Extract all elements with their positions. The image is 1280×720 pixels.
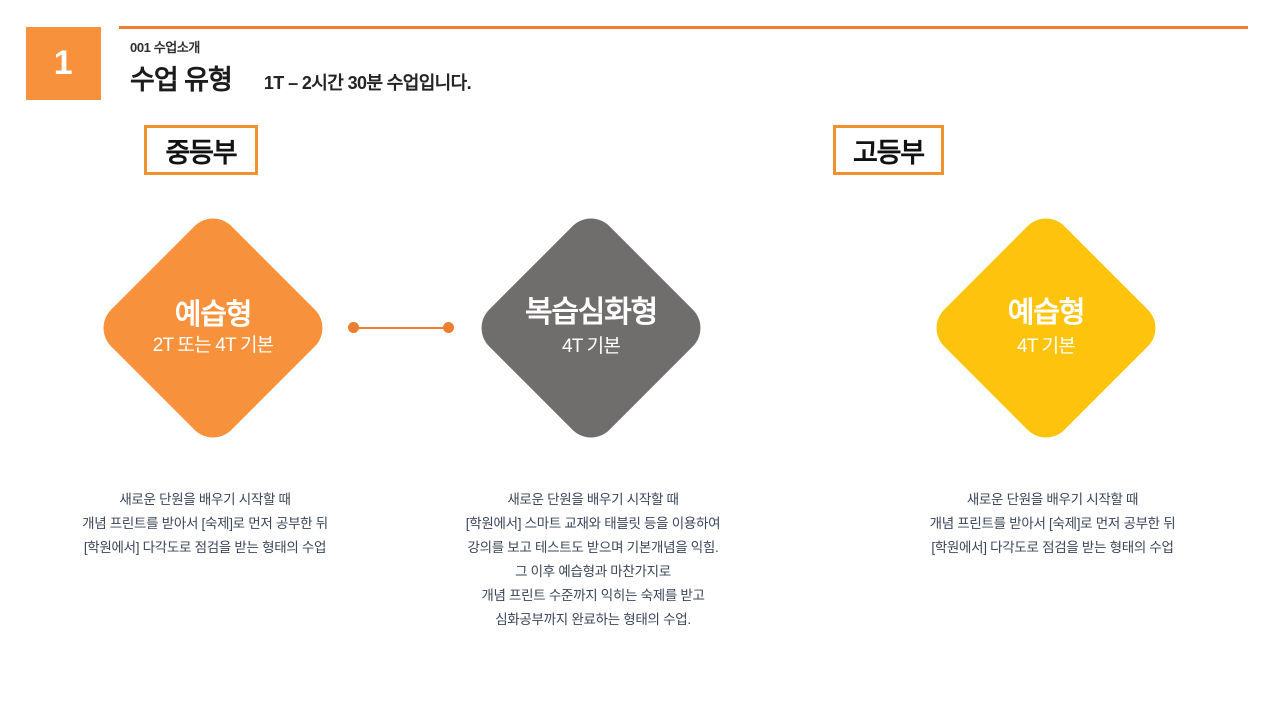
description-line: 새로운 단원을 배우기 시작할 때 [55,488,355,512]
course-type-title: 복습심화형 [525,296,657,330]
course-type-card-preview-middle: 예습형 2T 또는 4T 기본 [93,208,333,448]
course-type-card-review-deep-middle: 복습심화형 4T 기본 [471,208,711,448]
description-line: [학원에서] 다각도로 점검을 받는 형태의 수업 [885,536,1220,560]
group-label-middle-school: 중등부 [144,125,258,175]
page-subtitle: 1T – 2시간 30분 수업입니다. [264,69,471,95]
group-label-middle-school-text: 중등부 [166,131,237,170]
description-line: 강의를 보고 테스트도 받으며 기본개념을 익힘. [428,536,758,560]
course-description-review-deep-middle: 새로운 단원을 배우기 시작할 때 [학원에서] 스마트 교재와 태블릿 등을 … [428,488,758,632]
description-line: 그 이후 예습형과 마찬가지로 [428,560,758,584]
course-type-subtitle: 4T 기본 [1017,334,1075,360]
description-line: [학원에서] 스마트 교재와 태블릿 등을 이용하여 [428,512,758,536]
diamond-label-group: 예습형 4T 기본 [926,208,1166,448]
header-text-block: 001 수업소개 수업 유형 1T – 2시간 30분 수업입니다. [130,40,1030,97]
connector-dot-left-icon [348,322,359,333]
connector-line [353,327,449,329]
course-description-preview-high: 새로운 단원을 배우기 시작할 때 개념 프린트를 받아서 [숙제]로 먼저 공… [885,488,1220,560]
course-type-title: 예습형 [175,298,251,332]
group-label-high-school: 고등부 [833,125,944,175]
description-line: [학원에서] 다각도로 점검을 받는 형태의 수업 [55,536,355,560]
diamond-label-group: 복습심화형 4T 기본 [471,208,711,448]
slide-number-value: 1 [54,44,73,83]
description-line: 개념 프린트를 받아서 [숙제]로 먼저 공부한 뒤 [885,512,1220,536]
course-type-subtitle: 4T 기본 [562,334,620,360]
connector-line-group [348,322,454,334]
connector-dot-right-icon [443,322,454,333]
description-line: 새로운 단원을 배우기 시작할 때 [428,488,758,512]
course-type-subtitle: 2T 또는 4T 기본 [153,333,274,359]
group-label-high-school-text: 고등부 [853,131,924,170]
header-divider-rule [119,26,1248,29]
description-line: 새로운 단원을 배우기 시작할 때 [885,488,1220,512]
section-eyebrow-label: 001 수업소개 [130,40,1030,56]
course-type-title: 예습형 [1008,296,1084,330]
description-line: 심화공부까지 완료하는 형태의 수업. [428,608,758,632]
description-line: 개념 프린트 수준까지 익히는 숙제를 받고 [428,584,758,608]
course-type-card-preview-high: 예습형 4T 기본 [926,208,1166,448]
header-title-row: 수업 유형 1T – 2시간 30분 수업입니다. [130,58,1030,97]
course-description-preview-middle: 새로운 단원을 배우기 시작할 때 개념 프린트를 받아서 [숙제]로 먼저 공… [55,488,355,560]
diamond-label-group: 예습형 2T 또는 4T 기본 [93,208,333,448]
description-line: 개념 프린트를 받아서 [숙제]로 먼저 공부한 뒤 [55,512,355,536]
slide-number-badge: 1 [26,27,101,100]
page-title: 수업 유형 [130,58,232,97]
